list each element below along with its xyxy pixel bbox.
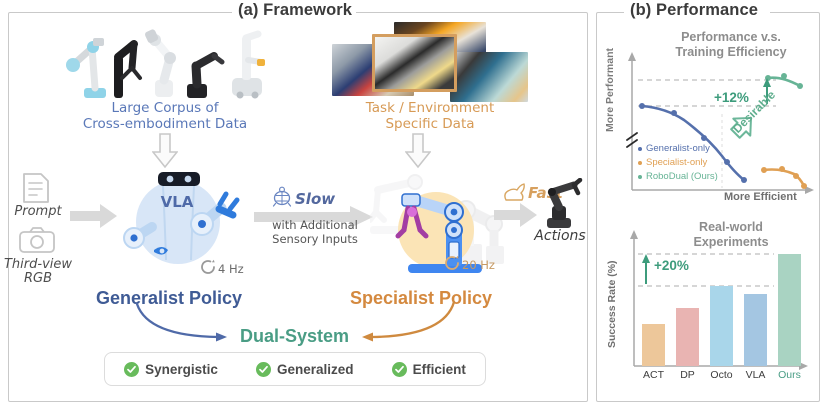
feature-synergistic: Synergistic [124, 362, 218, 377]
figure-root: (a) Framework (b) Performance [0, 0, 828, 413]
line-chart-legend: Generalist-only Specialist-only RoboDual… [638, 143, 718, 182]
framework-panel-title: (a) Framework [238, 1, 352, 20]
bar-chart-title-line2: Experiments [666, 235, 796, 250]
legend-label-generalist-only: Generalist-only [646, 143, 710, 154]
check-circle-icon [392, 362, 407, 377]
vla-core-label: VLA [147, 193, 207, 211]
generalist-rate-label: 4 Hz [218, 262, 244, 276]
actions-label: Actions [520, 228, 600, 244]
third-view-rgb-label: Third-view RGB [0, 258, 76, 286]
bar-act [642, 324, 665, 366]
performance-line-chart: Performance v.s. Training Efficiency [604, 28, 818, 208]
third-view-rgb-line1: Third-view [0, 258, 76, 272]
bar-tick-octo: Octo [704, 369, 739, 381]
bar-tick-act: ACT [638, 369, 669, 381]
corpus-caption: Large Corpus of Cross-embodiment Data [40, 100, 290, 132]
check-circle-icon [256, 362, 271, 377]
bar-octo [710, 286, 733, 366]
bar-tick-vla: VLA [739, 369, 772, 381]
slow-sublabel: with Additional Sensory Inputs [250, 219, 380, 246]
refresh-cycle-icon-generalist [200, 259, 217, 275]
robot-arm-5 [232, 34, 265, 99]
task-caption-line1: Task / Environment [330, 100, 530, 116]
dual-system-title: Dual-System [240, 326, 349, 347]
legend-label-specialist-only: Specialist-only [646, 157, 707, 168]
task-caption: Task / Environment Specific Data [330, 100, 530, 132]
refresh-cycle-icon-specialist [444, 255, 461, 271]
line-chart-title-line2: Training Efficiency [656, 45, 806, 60]
down-arrow-specialist [405, 133, 431, 169]
feature-efficient: Efficient [392, 362, 466, 377]
task-photo-4 [450, 52, 528, 102]
turtle-icon [272, 186, 292, 208]
bar-dp [676, 308, 699, 366]
robot-arm-collage [62, 26, 267, 100]
corpus-caption-line1: Large Corpus of [40, 100, 290, 116]
legend-item-generalist-only: Generalist-only [638, 143, 718, 154]
slow-sublabel-line1: with Additional [250, 219, 380, 233]
check-circle-icon [124, 362, 139, 377]
line-chart-xlabel: More Efficient [724, 191, 797, 203]
legend-item-specialist-only: Specialist-only [638, 157, 718, 168]
curved-arrow-specialist-to-dual [348, 300, 460, 346]
specialist-rate-label: 20 Hz [462, 258, 495, 272]
legend-item-robodual: RoboDual (Ours) [638, 171, 718, 182]
robot-arm-3 [144, 28, 176, 97]
bar-tick-ours: Ours [773, 369, 806, 381]
line-chart-title-line1: Performance v.s. [656, 30, 806, 45]
bar-tick-dp: DP [672, 369, 703, 381]
cross-embodiment-arm-images [62, 26, 267, 96]
feature-label-efficient: Efficient [413, 362, 466, 377]
task-environment-images [332, 22, 527, 98]
robot-arm-4 [187, 56, 222, 98]
legend-dot-icon [638, 175, 642, 179]
generalist-policy-illustration [118, 164, 248, 276]
document-icon [18, 172, 54, 204]
rabbit-icon [500, 182, 526, 202]
flow-arrow-inputs-to-generalist [70, 203, 118, 229]
prompt-input-label: Prompt [4, 205, 72, 219]
robot-arm-2 [114, 44, 140, 98]
task-caption-line2: Specific Data [330, 116, 530, 132]
bar-chart-delta-label: +20% [654, 258, 689, 273]
robot-arm-1 [66, 38, 106, 98]
third-view-rgb-line2: RGB [0, 272, 76, 286]
line-chart-ylabel: More Performant [604, 48, 616, 132]
bar-chart-title: Real-world Experiments [666, 220, 796, 249]
feature-generalized: Generalized [256, 362, 354, 377]
performance-panel-title: (b) Performance [630, 1, 758, 20]
slow-sublabel-line2: Sensory Inputs [250, 233, 380, 247]
line-chart-delta-label: +12% [714, 90, 749, 105]
feature-label-synergistic: Synergistic [145, 362, 218, 377]
realworld-bar-chart: Real-world Experiments Success Rate (%) … [604, 214, 818, 400]
legend-dot-icon [638, 147, 642, 151]
legend-label-robodual: RoboDual (Ours) [646, 171, 718, 182]
features-box: Synergistic Generalized Efficient [104, 352, 486, 386]
legend-dot-icon [638, 161, 642, 165]
bar-ours [778, 254, 801, 366]
task-photo-2-focused [372, 34, 457, 92]
action-robot-arm-icon [530, 178, 586, 230]
curved-arrow-generalist-to-dual [132, 302, 242, 346]
bar-chart-title-line1: Real-world [666, 220, 796, 235]
camera-icon [18, 226, 56, 254]
feature-label-generalized: Generalized [277, 362, 354, 377]
bar-chart-ylabel: Success Rate (%) [606, 260, 618, 348]
corpus-caption-line2: Cross-embodiment Data [40, 116, 290, 132]
line-chart-title: Performance v.s. Training Efficiency [656, 30, 806, 59]
bar-vla [744, 294, 767, 366]
